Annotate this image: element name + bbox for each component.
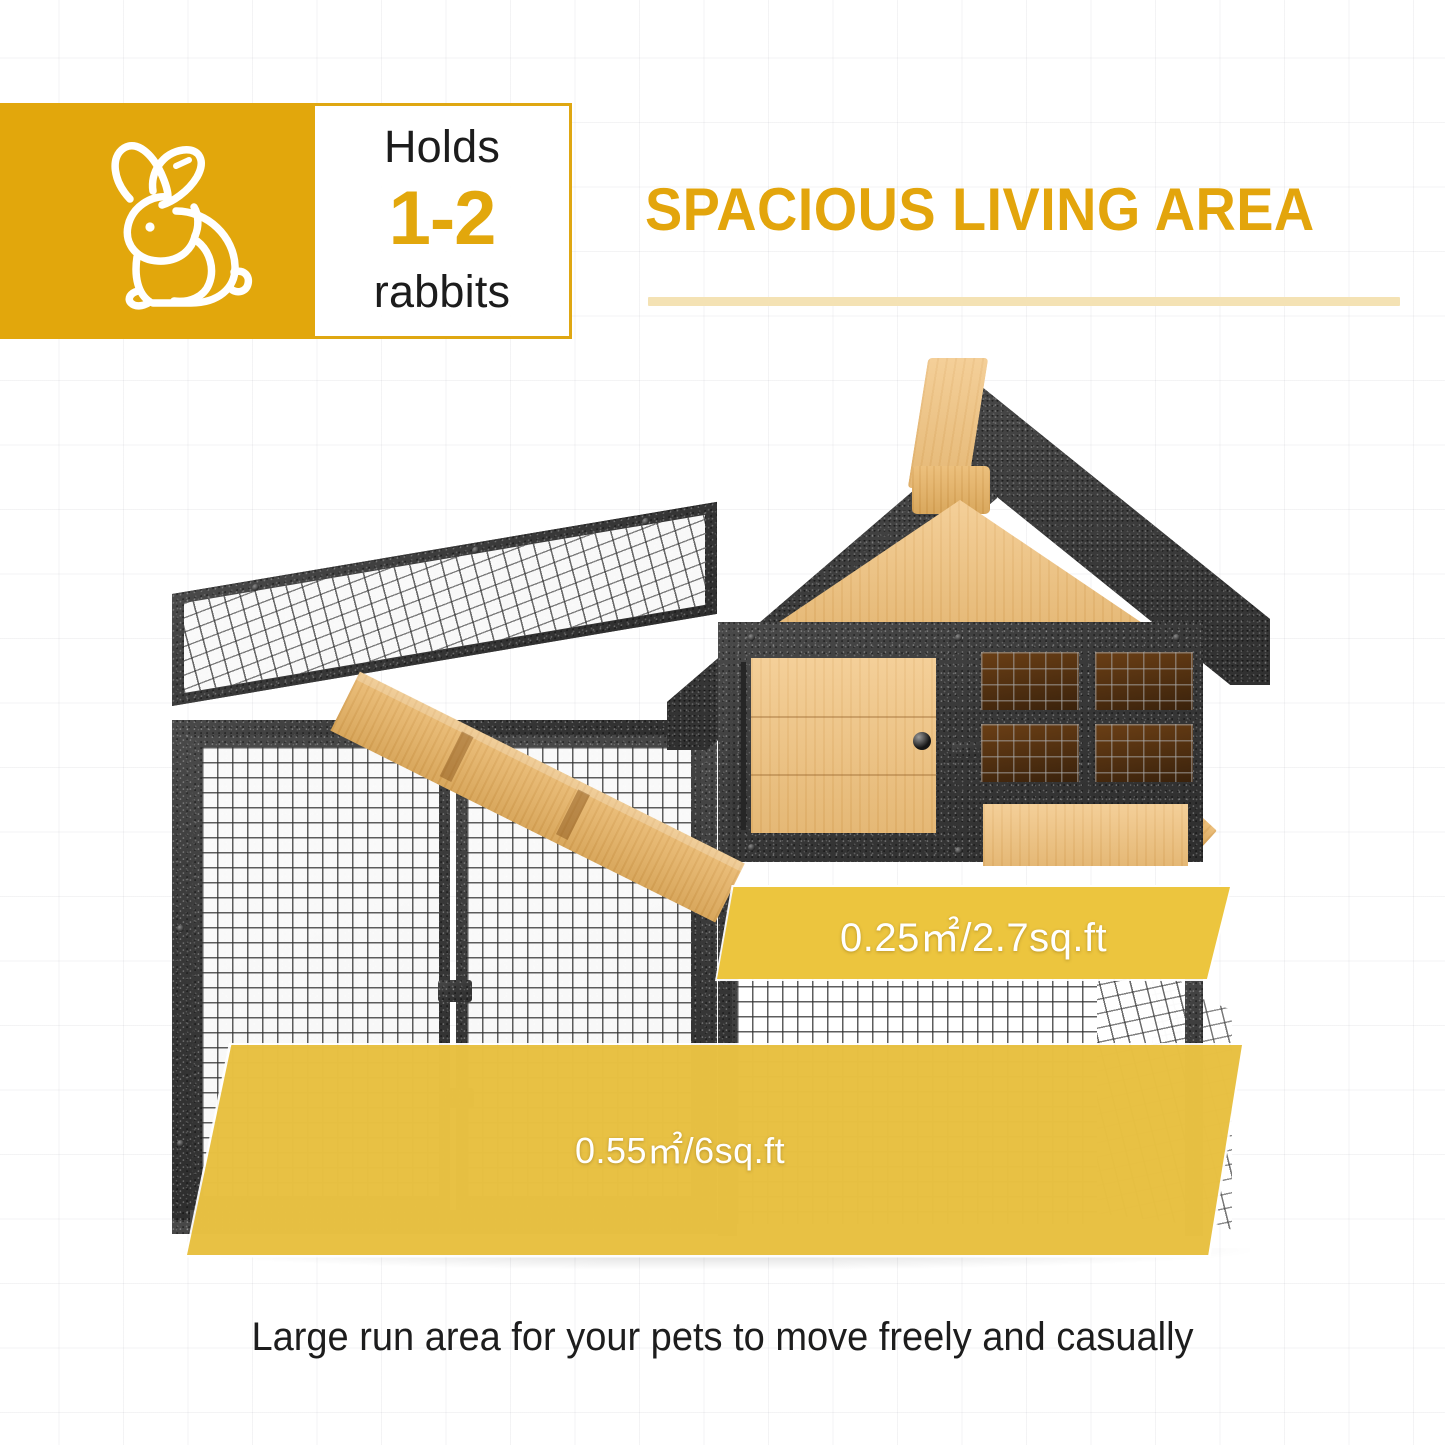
ramp-clip [438, 980, 472, 1002]
window-top-left [981, 652, 1079, 710]
door-plank-seam [751, 774, 936, 776]
door-knob[interactable] [913, 732, 931, 750]
screw [748, 634, 755, 641]
run-floor-area-label: 0.55㎡/6sq.ft [575, 1122, 785, 1174]
ground-shadow [180, 1248, 1250, 1270]
run-door-left[interactable] [190, 735, 450, 1210]
screw [1173, 634, 1180, 641]
lower-side-mesh [1097, 956, 1185, 1224]
run-floor-rail [172, 1220, 718, 1234]
badge-suffix-label: rabbits [374, 269, 510, 314]
screw [1185, 1200, 1192, 1207]
badge-icon-panel [0, 103, 315, 339]
ramp-rung [556, 789, 590, 840]
screw [955, 634, 962, 641]
caption-text: Large run area for your pets to move fre… [36, 1315, 1409, 1360]
rabbit-icon [58, 129, 258, 314]
page-title: SPACIOUS LIVING AREA [645, 180, 1315, 240]
badge-text-panel: Holds 1-2 rabbits [315, 103, 572, 339]
hutch-lower-body [723, 940, 1203, 1236]
window-bottom-right [1095, 724, 1193, 782]
title-underline-rule [648, 297, 1400, 306]
infographic-page: Holds 1-2 rabbits SPACIOUS LIVING AREA [0, 0, 1445, 1445]
ramp-rung [440, 731, 474, 782]
screw [748, 844, 755, 851]
run-door-left-mesh [202, 747, 439, 1196]
hutch-hatch-panel[interactable] [983, 804, 1188, 866]
run-latch-pin [456, 1106, 460, 1198]
hutch-wooden-door[interactable] [751, 658, 936, 833]
run-roof-frame [172, 502, 717, 706]
door-hinge [741, 662, 746, 830]
lower-back-mesh [737, 956, 1097, 1224]
window-bottom-left [981, 724, 1079, 782]
run-roof-mesh [184, 515, 705, 693]
hutch-upper-body [723, 622, 1203, 862]
badge-count-label: 1-2 [389, 173, 496, 266]
screw [955, 847, 962, 854]
lower-right-post [1185, 940, 1203, 1236]
badge-prefix-label: Holds [384, 124, 500, 169]
window-top-right [1095, 652, 1193, 710]
upper-deck-area-label: 0.25㎡/2.7sq.ft [840, 905, 1107, 963]
screw [177, 925, 184, 932]
run-door-hinge [182, 738, 192, 1208]
run-door-latch[interactable] [444, 1088, 474, 1108]
capacity-badge: Holds 1-2 rabbits [0, 103, 572, 339]
screw [177, 1140, 184, 1147]
door-plank-seam [751, 716, 936, 718]
